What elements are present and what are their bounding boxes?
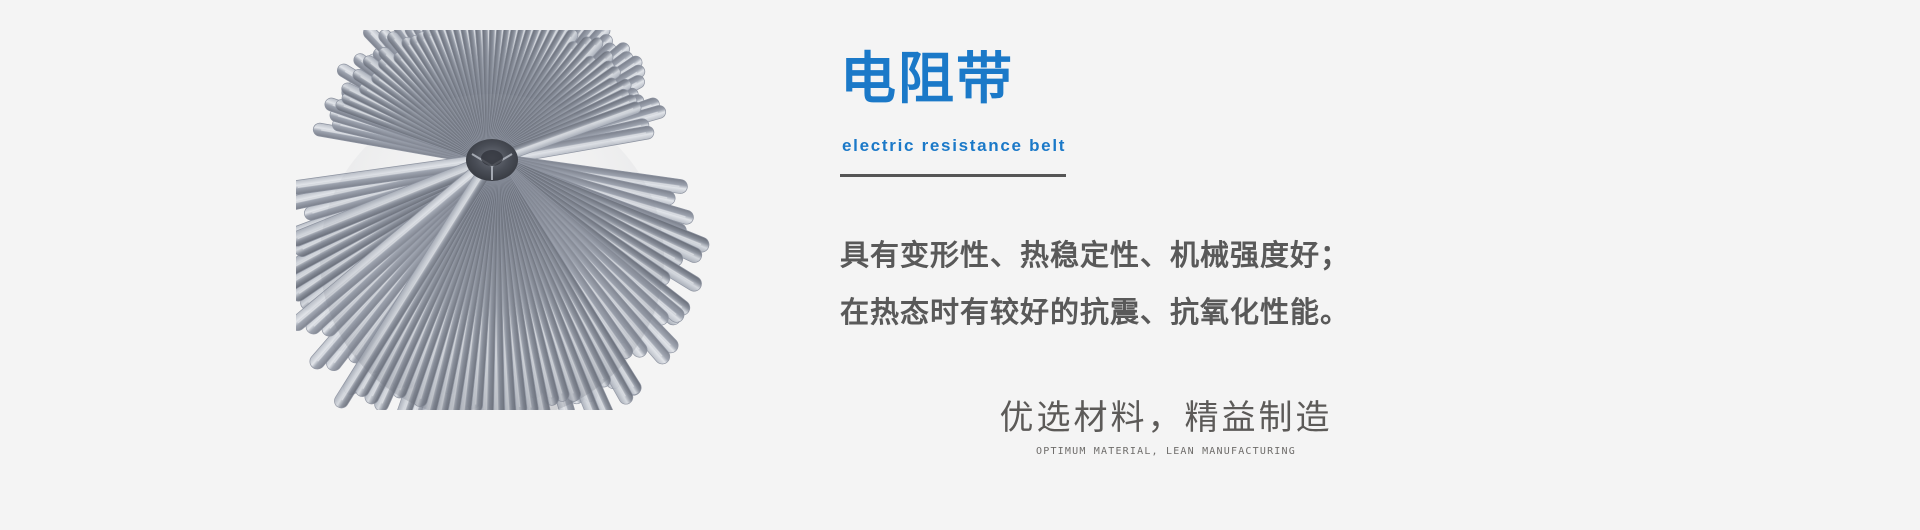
description-line-2: 在热态时有较好的抗震、抗氧化性能。 xyxy=(840,285,1480,342)
slogan-english: OPTIMUM MATERIAL, LEAN MANUFACTURING xyxy=(956,445,1376,459)
description-line-1: 具有变形性、热稳定性、机械强度好； xyxy=(840,228,1480,285)
feature-description: 具有变形性、热稳定性、机械强度好； 在热态时有较好的抗震、抗氧化性能。 xyxy=(840,228,1480,342)
slogan: 优选材料，精益制造 OPTIMUM MATERIAL, LEAN MANUFAC… xyxy=(956,396,1376,459)
product-banner: 电阻带 electric resistance belt 具有变形性、热稳定性、… xyxy=(0,0,1920,530)
slogan-chinese: 优选材料，精益制造 xyxy=(956,396,1376,442)
title-divider xyxy=(840,174,1066,177)
coil-hub xyxy=(466,139,518,181)
banner-content: 电阻带 electric resistance belt 具有变形性、热稳定性、… xyxy=(840,0,1740,530)
page-title: 电阻带 xyxy=(840,48,1014,110)
product-image xyxy=(296,30,716,410)
page-subtitle: electric resistance belt xyxy=(842,136,1066,156)
